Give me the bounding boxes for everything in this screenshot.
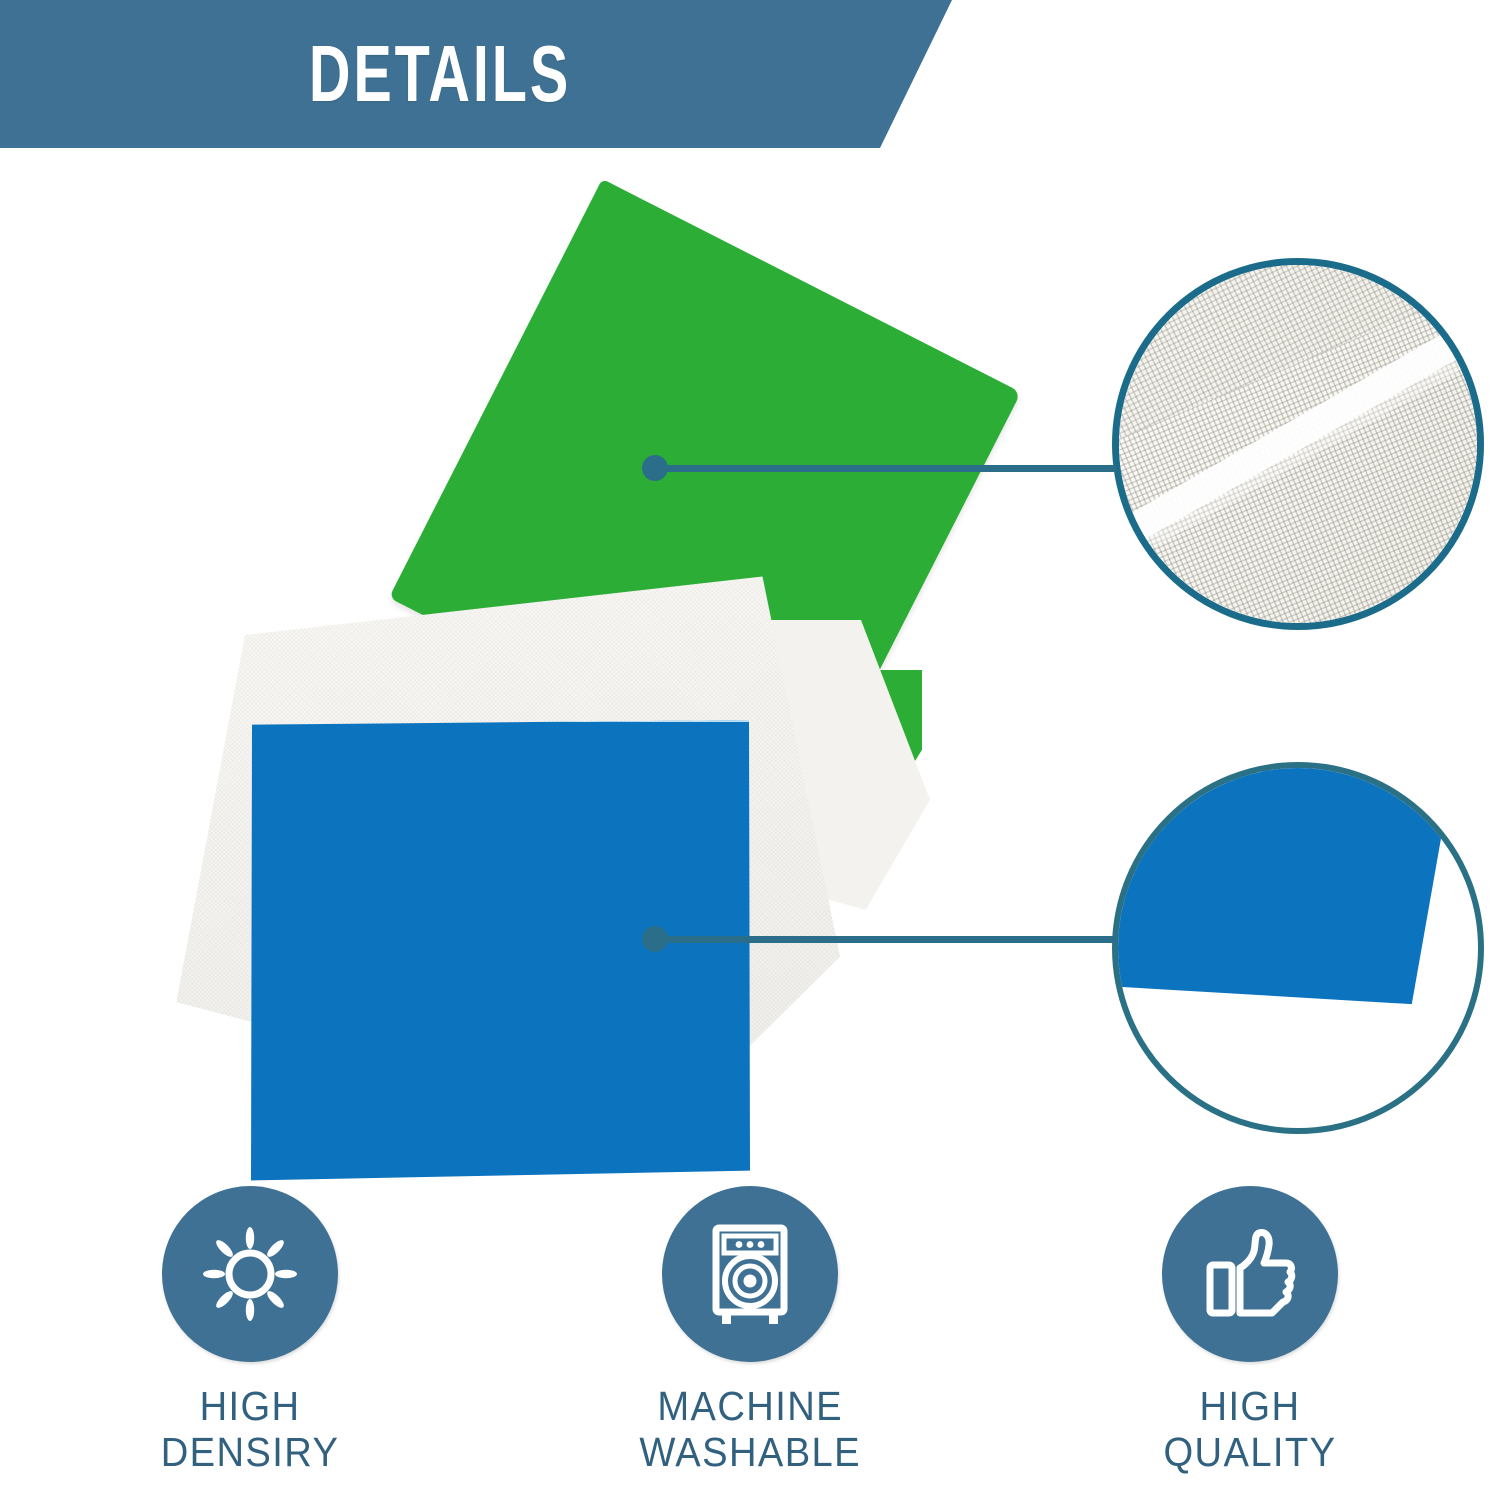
feature-badges: HIGH DENSIRY MACH [0,1186,1500,1492]
product-photo [0,150,1100,1180]
feature-label-line1: MACHINE [657,1383,843,1429]
feature-icon-circle [1162,1186,1338,1362]
callout-anchor-dot-bottom [642,926,668,952]
blue-corner-sheet [1112,762,1464,1078]
callout-fabric-weave [1112,258,1484,630]
feature-high-density: HIGH DENSIRY [0,1186,500,1492]
callout-connector-line-bottom [658,936,1116,943]
feature-label-line2: DENSIRY [161,1430,340,1476]
thumbs-up-icon [1194,1218,1306,1330]
washing-machine-icon [694,1218,806,1330]
fabric-fold-highlight [1112,258,1484,630]
feature-machine-washable: MACHINE WASHABLE [500,1186,1000,1492]
feature-label-line2: WASHABLE [639,1430,861,1476]
feature-label-line2: QUALITY [1164,1430,1337,1476]
page-title: DETAILS [123,0,757,148]
feature-label: HIGH QUALITY [1164,1384,1337,1476]
blue-printed-face [250,720,750,1187]
feature-label: HIGH DENSIRY [161,1384,340,1476]
product-detail-page: DETAILS [0,0,1500,1492]
sun-icon [195,1219,305,1329]
callout-blue-corner [1112,762,1484,1134]
feature-icon-circle [162,1186,338,1362]
feature-high-quality: HIGH QUALITY [1000,1186,1500,1492]
feature-label-line1: HIGH [1200,1383,1301,1429]
feature-icon-circle [662,1186,838,1362]
callout-connector-line-top [658,465,1116,472]
details-banner: DETAILS [0,0,960,148]
feature-label: MACHINE WASHABLE [639,1384,861,1476]
white-cloth [160,450,840,1130]
callout-anchor-dot-top [642,455,668,481]
feature-label-line1: HIGH [200,1383,301,1429]
